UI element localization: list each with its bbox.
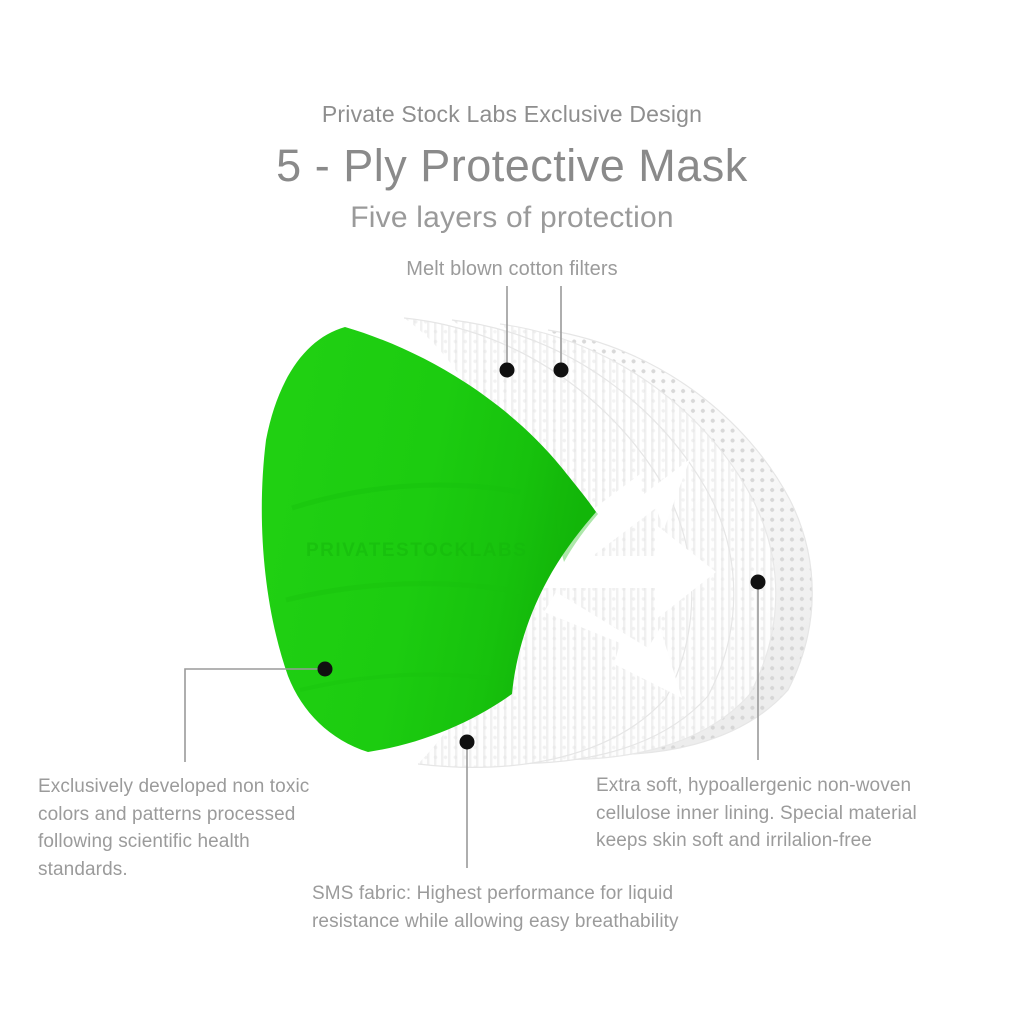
callout-right-line-2: cellulose inner lining. Special material [596, 800, 996, 828]
callout-non-toxic-colors: Exclusively developed non toxic colors a… [38, 773, 398, 883]
page-subtitle: Five layers of protection [0, 201, 1024, 235]
callout-left-line-2: colors and patterns processed [38, 801, 398, 829]
callout-right-line-1: Extra soft, hypoallergenic non-woven [596, 772, 996, 800]
callout-left-line-1: Exclusively developed non toxic [38, 773, 398, 801]
callout-left-line-3: following scientific health [38, 828, 398, 856]
callout-right-line-3: keeps skin soft and irrilalion-free [596, 827, 996, 855]
callout-melt-blown-filters: Melt blown cotton filters [0, 255, 1024, 284]
brand-eyebrow: Private Stock Labs Exclusive Design [0, 101, 1024, 128]
page-title: 5 - Ply Protective Mask [0, 140, 1024, 192]
callout-bottom-line-1: SMS fabric: Highest performance for liqu… [312, 880, 782, 908]
callout-inner-lining: Extra soft, hypoallergenic non-woven cel… [596, 772, 996, 855]
brand-emboss-text: PRIVATESTOCKLABS [306, 540, 527, 561]
leader-dot-lining [751, 575, 766, 590]
callout-sms-fabric: SMS fabric: Highest performance for liqu… [312, 880, 782, 935]
leader-dot-filter-2 [554, 363, 569, 378]
leader-dot-filter-1 [500, 363, 515, 378]
callout-bottom-line-2: resistance while allowing easy breathabi… [312, 908, 782, 936]
infographic-canvas: PRIVATESTOCKLABS Private Stock Labs Excl… [0, 0, 1024, 1024]
leader-dot-colors [318, 662, 333, 677]
leader-dot-sms [460, 735, 475, 750]
